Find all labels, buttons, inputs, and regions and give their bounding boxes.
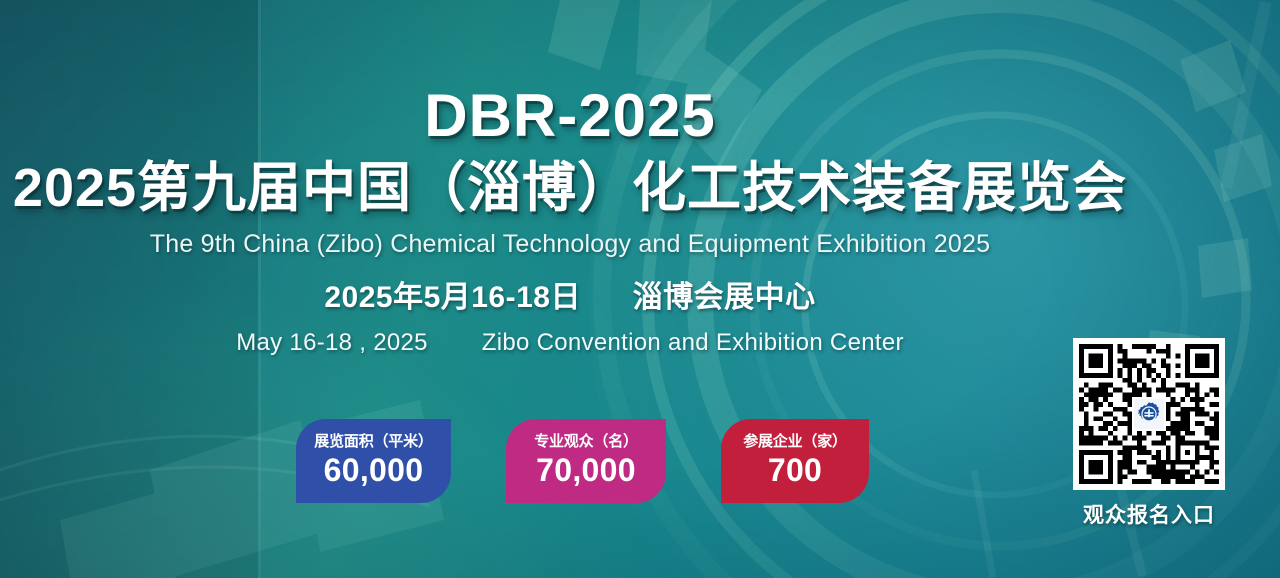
banner-content: DBR-2025 2025第九届中国（淄博）化工技术装备展览会 The 9th … bbox=[0, 0, 1280, 578]
stat-badge-exhibition-area: 展览面积（平米） 60,000 bbox=[296, 419, 451, 503]
event-date-venue-english: May 16-18 , 2025 Zibo Convention and Exh… bbox=[0, 329, 1140, 357]
gear-logo-icon bbox=[1136, 401, 1162, 427]
event-title-english: The 9th China (Zibo) Chemical Technology… bbox=[0, 230, 1140, 259]
qr-code-frame[interactable] bbox=[1073, 338, 1225, 490]
event-code-title: DBR-2025 bbox=[0, 86, 1140, 146]
stat-label-professional-visitors: 专业观众（名） bbox=[534, 434, 638, 449]
title-block: DBR-2025 2025第九届中国（淄博）化工技术装备展览会 The 9th … bbox=[0, 86, 1140, 357]
event-venue-english: Zibo Convention and Exhibition Center bbox=[482, 329, 904, 356]
stat-badge-exhibiting-companies: 参展企业（家） 700 bbox=[721, 419, 869, 503]
event-date-english: May 16-18 , 2025 bbox=[236, 329, 428, 356]
stat-badge-group: 展览面积（平米） 60,000 专业观众（名） 70,000 参展企业（家） 7… bbox=[296, 419, 869, 503]
stat-value-exhibiting-companies: 700 bbox=[768, 454, 822, 486]
stat-label-exhibiting-companies: 参展企业（家） bbox=[743, 434, 847, 449]
event-date-chinese: 2025年5月16-18日 bbox=[324, 281, 581, 314]
event-date-venue-chinese: 2025年5月16-18日 淄博会展中心 bbox=[0, 272, 1140, 316]
event-venue-chinese: 淄博会展中心 bbox=[633, 281, 816, 314]
stat-value-professional-visitors: 70,000 bbox=[536, 454, 636, 486]
exhibition-banner: DBR-2025 2025第九届中国（淄博）化工技术装备展览会 The 9th … bbox=[0, 0, 1280, 578]
stat-value-exhibition-area: 60,000 bbox=[324, 454, 424, 486]
qr-center-logo bbox=[1134, 399, 1164, 429]
qr-caption-registration: 观众报名入口 bbox=[1073, 499, 1225, 529]
registration-qr-block[interactable]: 观众报名入口 bbox=[1073, 338, 1225, 529]
stat-badge-professional-visitors: 专业观众（名） 70,000 bbox=[506, 419, 666, 503]
event-title-chinese: 2025第九届中国（淄博）化工技术装备展览会 bbox=[0, 160, 1140, 217]
stat-label-exhibition-area: 展览面积（平米） bbox=[314, 434, 432, 449]
